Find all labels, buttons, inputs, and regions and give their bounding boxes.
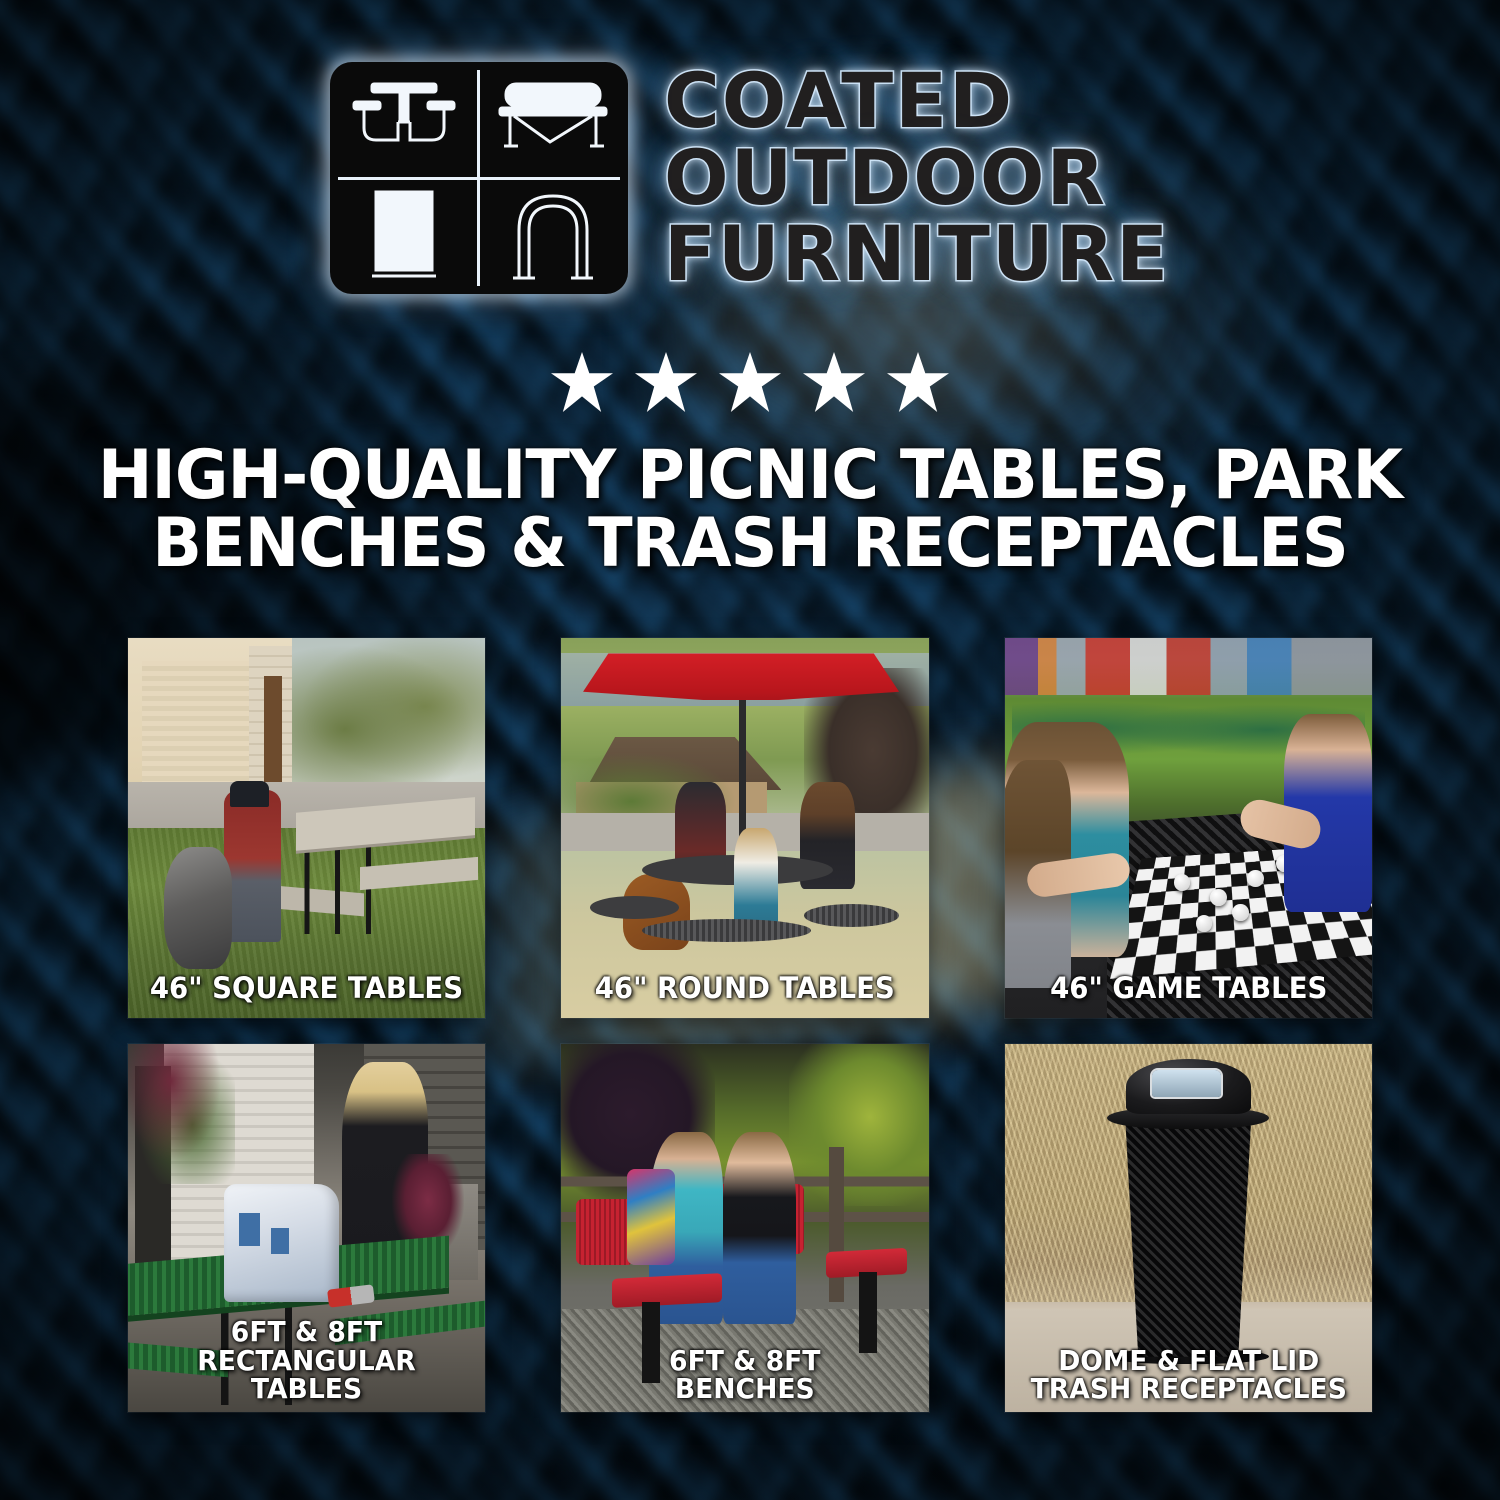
baseball-cap	[230, 781, 269, 808]
product-caption-rectangular-tables: 6FT & 8FT RECTANGULAR TABLES	[143, 1318, 471, 1404]
logo-quadrant-bench	[479, 62, 628, 178]
fence-post	[829, 1147, 844, 1302]
logo-quadrant-dome-lid	[479, 178, 628, 294]
person-seated	[224, 790, 281, 942]
dome-lid-icon	[505, 184, 601, 289]
receptacle-body	[1115, 1114, 1262, 1357]
product-photo-trash-receptacles[interactable]: DOME & FLAT LID TRASH RECEPTACLES	[1005, 1044, 1373, 1412]
round-bench-left	[590, 896, 678, 919]
brand-name-line-2: OUTDOOR	[664, 141, 1170, 215]
headline-line-1: HIGH-QUALITY PICNIC TABLES, PARK	[97, 442, 1403, 510]
product-card-square-tables[interactable]: 46" SQUARE TABLES	[128, 638, 485, 1018]
round-bench-front	[642, 919, 811, 942]
front-door	[264, 676, 282, 790]
round-bench-right	[804, 904, 900, 927]
product-card-trash-receptacles[interactable]: DOME & FLAT LID TRASH RECEPTACLES	[1005, 1044, 1373, 1412]
scene-game-tables	[1005, 638, 1373, 1018]
child-seated	[734, 828, 778, 927]
product-card-rectangular-tables[interactable]: 6FT & 8FT RECTANGULAR TABLES	[128, 1044, 485, 1412]
product-caption-benches: 6FT & 8FT BENCHES	[576, 1347, 914, 1404]
boy-right	[723, 1132, 797, 1323]
star-icon	[635, 352, 697, 412]
caption-line-1: 46" ROUND TABLES	[576, 974, 914, 1004]
caption-line-2: RECTANGULAR TABLES	[143, 1347, 471, 1404]
bench-backrest-left	[576, 1199, 635, 1265]
trash-receptacle-icon	[362, 184, 446, 289]
headline-line-2: BENCHES & TRASH RECEPTACLES	[97, 510, 1403, 578]
rating-stars	[0, 352, 1500, 412]
product-caption-game-tables: 46" GAME TABLES	[1019, 974, 1357, 1004]
logo-quadrant-trash-receptacle	[330, 178, 479, 294]
caption-line-1: 46" SQUARE TABLES	[143, 974, 471, 1004]
picnic-table-icon	[348, 76, 460, 165]
checker-piece	[1210, 889, 1227, 906]
logo-mark-grid	[330, 62, 628, 294]
logo-quadrant-picnic-table	[330, 62, 479, 178]
product-photo-game-tables[interactable]: 46" GAME TABLES	[1005, 638, 1373, 1018]
product-card-benches[interactable]: 6FT & 8FT BENCHES	[561, 1044, 929, 1412]
checker-piece	[1174, 874, 1191, 891]
checker-piece	[1232, 904, 1249, 921]
scene-square-tables	[128, 638, 485, 1018]
product-card-game-tables[interactable]: 46" GAME TABLES	[1005, 638, 1373, 1018]
backpack	[627, 1169, 675, 1265]
dog	[164, 847, 232, 969]
caption-line-1: 6FT & 8FT	[143, 1318, 471, 1347]
bench-seat-left	[612, 1273, 722, 1308]
brand-logo: COATED OUTDOOR FURNITURE	[0, 62, 1500, 294]
star-icon	[551, 352, 613, 412]
star-icon	[719, 352, 781, 412]
headline: HIGH-QUALITY PICNIC TABLES, PARK BENCHES…	[97, 442, 1403, 578]
product-photo-benches[interactable]: 6FT & 8FT BENCHES	[561, 1044, 929, 1412]
checker-piece	[1247, 870, 1264, 887]
product-photo-round-tables[interactable]: 46" ROUND TABLES	[561, 638, 929, 1018]
lid-opening	[1152, 1070, 1222, 1098]
product-photo-square-tables[interactable]: 46" SQUARE TABLES	[128, 638, 485, 1018]
brand-name-line-3: FURNITURE	[664, 217, 1170, 291]
product-caption-round-tables: 46" ROUND TABLES	[576, 974, 914, 1004]
brand-name-line-1: COATED	[664, 64, 1170, 138]
product-card-round-tables[interactable]: 46" ROUND TABLES	[561, 638, 929, 1018]
trees	[285, 638, 485, 790]
bench-leg-right	[859, 1272, 877, 1353]
caption-line-1: DOME & FLAT LID	[1019, 1347, 1357, 1376]
garage-door	[142, 661, 249, 790]
caption-line-1: 6FT & 8FT	[576, 1347, 914, 1376]
hanging-plant	[128, 1044, 235, 1184]
scene-round-tables	[561, 638, 929, 1018]
marketing-poster: COATED OUTDOOR FURNITURE HIGH-QUALITY PI…	[0, 0, 1500, 1500]
caption-line-2: TRASH RECEPTACLES	[1019, 1375, 1357, 1404]
star-icon	[803, 352, 865, 412]
product-photo-rectangular-tables[interactable]: 6FT & 8FT RECTANGULAR TABLES	[128, 1044, 485, 1412]
product-grid: 46" SQUARE TABLES	[128, 638, 1372, 1412]
star-icon	[887, 352, 949, 412]
brand-wordmark: COATED OUTDOOR FURNITURE	[664, 64, 1170, 291]
bench-icon	[496, 80, 610, 161]
product-caption-square-tables: 46" SQUARE TABLES	[143, 974, 471, 1004]
bag-label	[239, 1213, 260, 1246]
caption-line-2: BENCHES	[576, 1375, 914, 1404]
bag-label	[271, 1228, 289, 1254]
caption-line-1: 46" GAME TABLES	[1019, 974, 1357, 1004]
product-caption-trash-receptacles: DOME & FLAT LID TRASH RECEPTACLES	[1019, 1347, 1357, 1404]
